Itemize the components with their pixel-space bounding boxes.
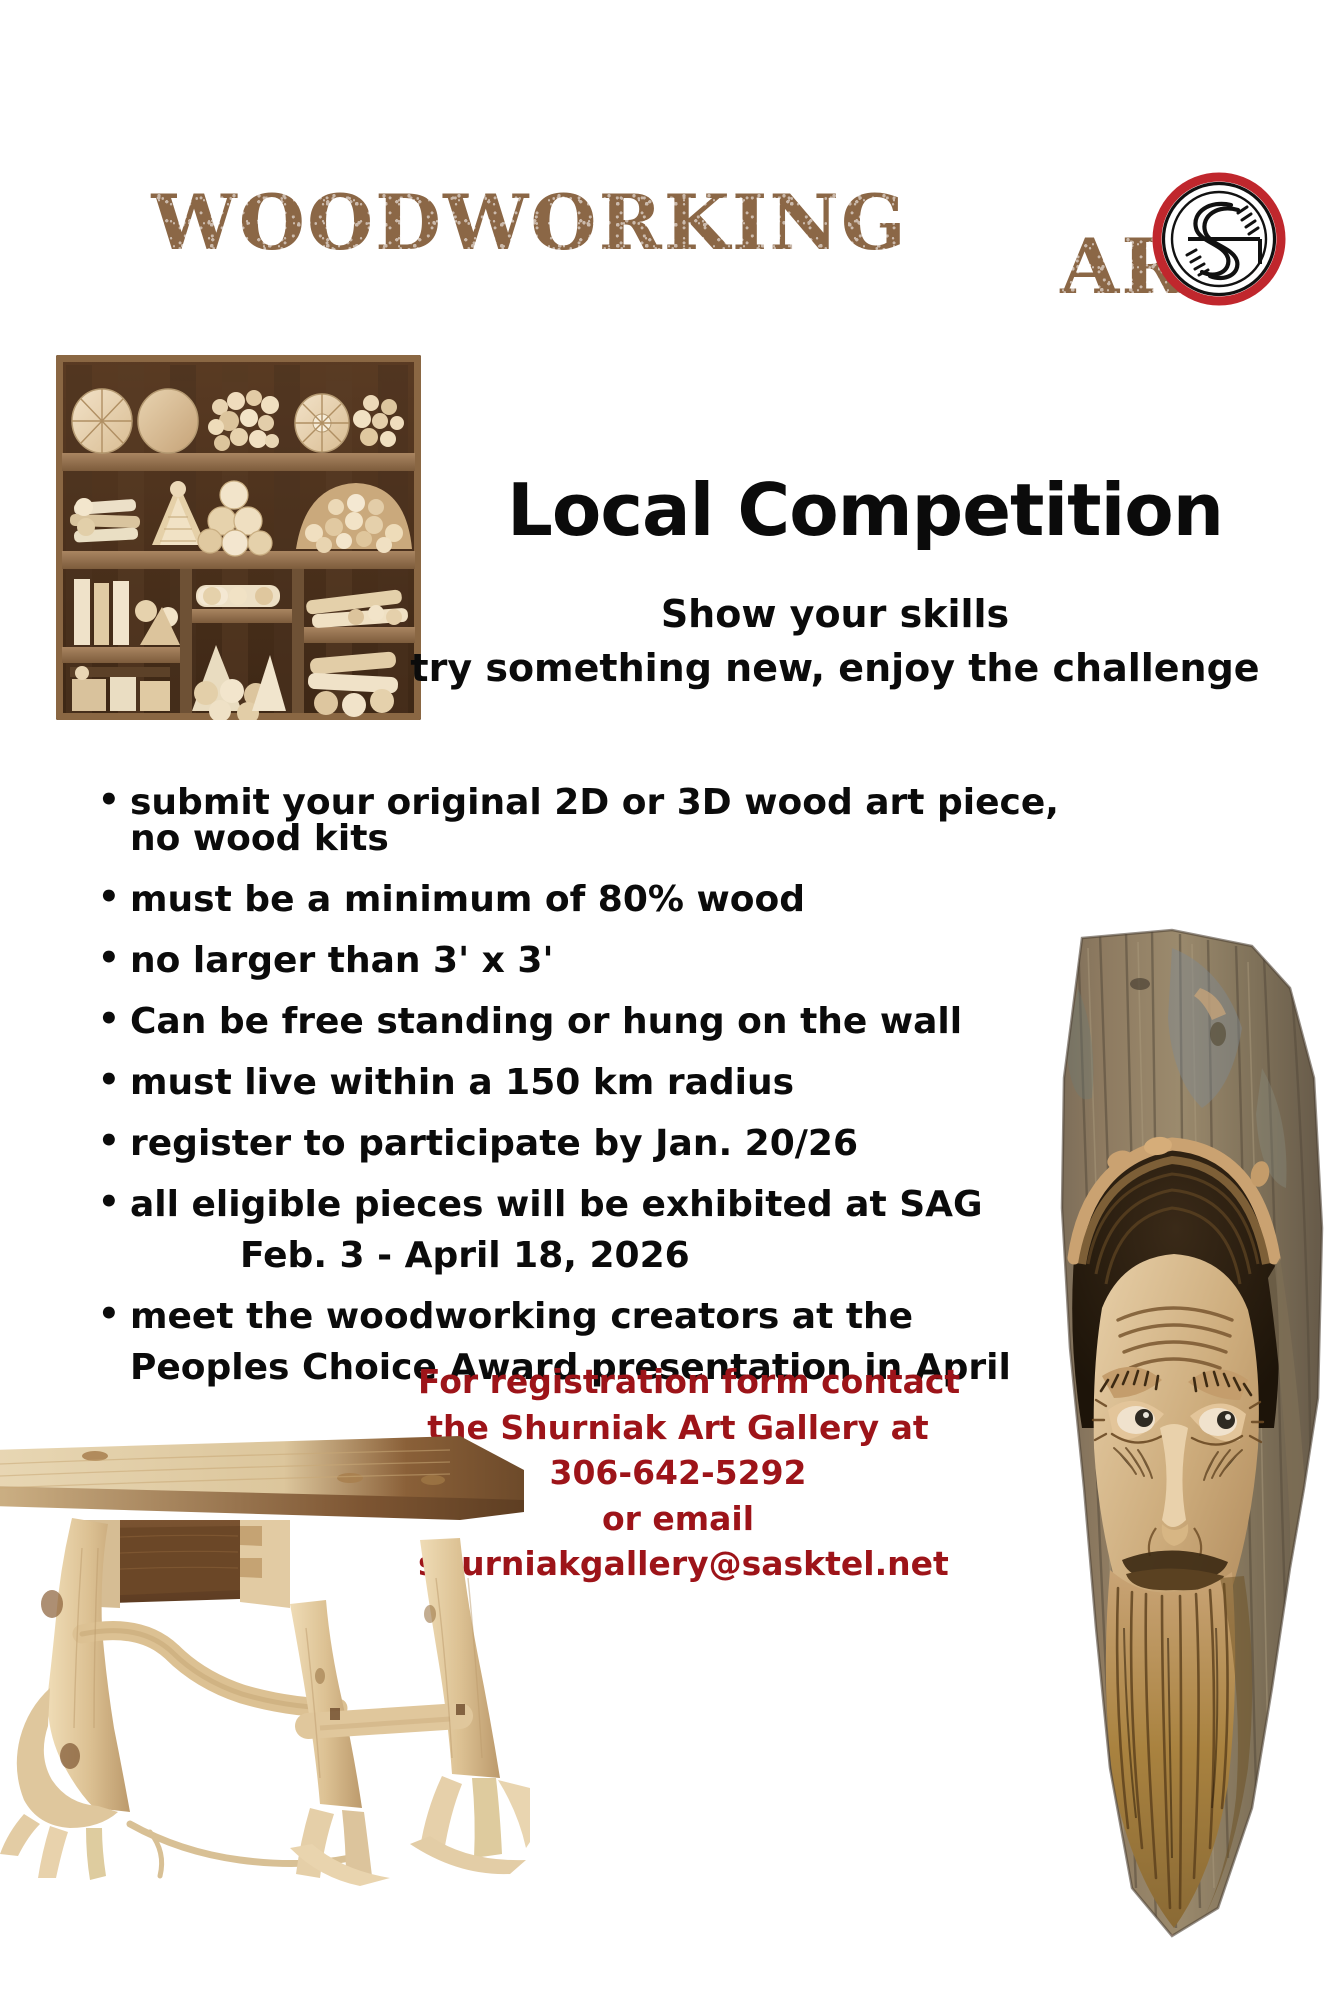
tagline-line-2: try something new, enjoy the challenge: [400, 642, 1270, 696]
list-item: must be a minimum of 80% wood: [96, 882, 1106, 918]
page-subtitle: Local Competition: [470, 473, 1260, 549]
list-item-text: all eligible pieces will be exhibited at…: [130, 1184, 983, 1225]
contact-line-1: For registration form contact: [418, 1359, 938, 1405]
wood-carving-illustration: [1022, 928, 1333, 1938]
list-item-text: must live within a 150 km radius: [130, 1062, 794, 1103]
list-item-text: must be a minimum of 80% wood: [130, 879, 805, 920]
headline-line-1: Woodworking: [141, 158, 907, 266]
rules-list: submit your original 2D or 3D wood art p…: [96, 785, 1106, 1411]
list-item: all eligible pieces will be exhibited at…: [96, 1187, 1106, 1274]
poster-root: Woodworking Art: [0, 0, 1333, 2000]
list-item: register to participate by Jan. 20/26: [96, 1126, 1106, 1162]
list-item-text: meet the woodworking creators at the: [130, 1296, 913, 1337]
list-item: submit your original 2D or 3D wood art p…: [96, 785, 1106, 857]
gallery-logo: [1152, 172, 1286, 306]
stacked-firewood-shelf-photo: [56, 355, 421, 720]
list-item-text: submit your original 2D or 3D wood art p…: [130, 782, 1059, 859]
list-item-text: register to participate by Jan. 20/26: [130, 1123, 858, 1164]
list-item-text: Can be free standing or hung on the wall: [130, 1001, 962, 1042]
wood-spirit-face-carving-photo: [1022, 928, 1333, 1938]
sg-monogram-icon: [1152, 172, 1286, 306]
list-item-subtext: Feb. 3 - April 18, 2026: [130, 1238, 1106, 1274]
list-item: Can be free standing or hung on the wall: [96, 1004, 1106, 1040]
shelf-illustration: [56, 355, 421, 720]
rustic-live-edge-bench-photo: [0, 1408, 530, 1918]
tagline-line-1: Show your skills: [400, 588, 1270, 642]
list-item-text: no larger than 3' x 3': [130, 940, 553, 981]
list-item: must live within a 150 km radius: [96, 1065, 1106, 1101]
poster-headline: Woodworking Art: [0, 158, 1333, 266]
bench-illustration: [0, 1408, 530, 1918]
poster-tagline: Show your skills try something new, enjo…: [400, 588, 1270, 696]
list-item: no larger than 3' x 3': [96, 943, 1106, 979]
